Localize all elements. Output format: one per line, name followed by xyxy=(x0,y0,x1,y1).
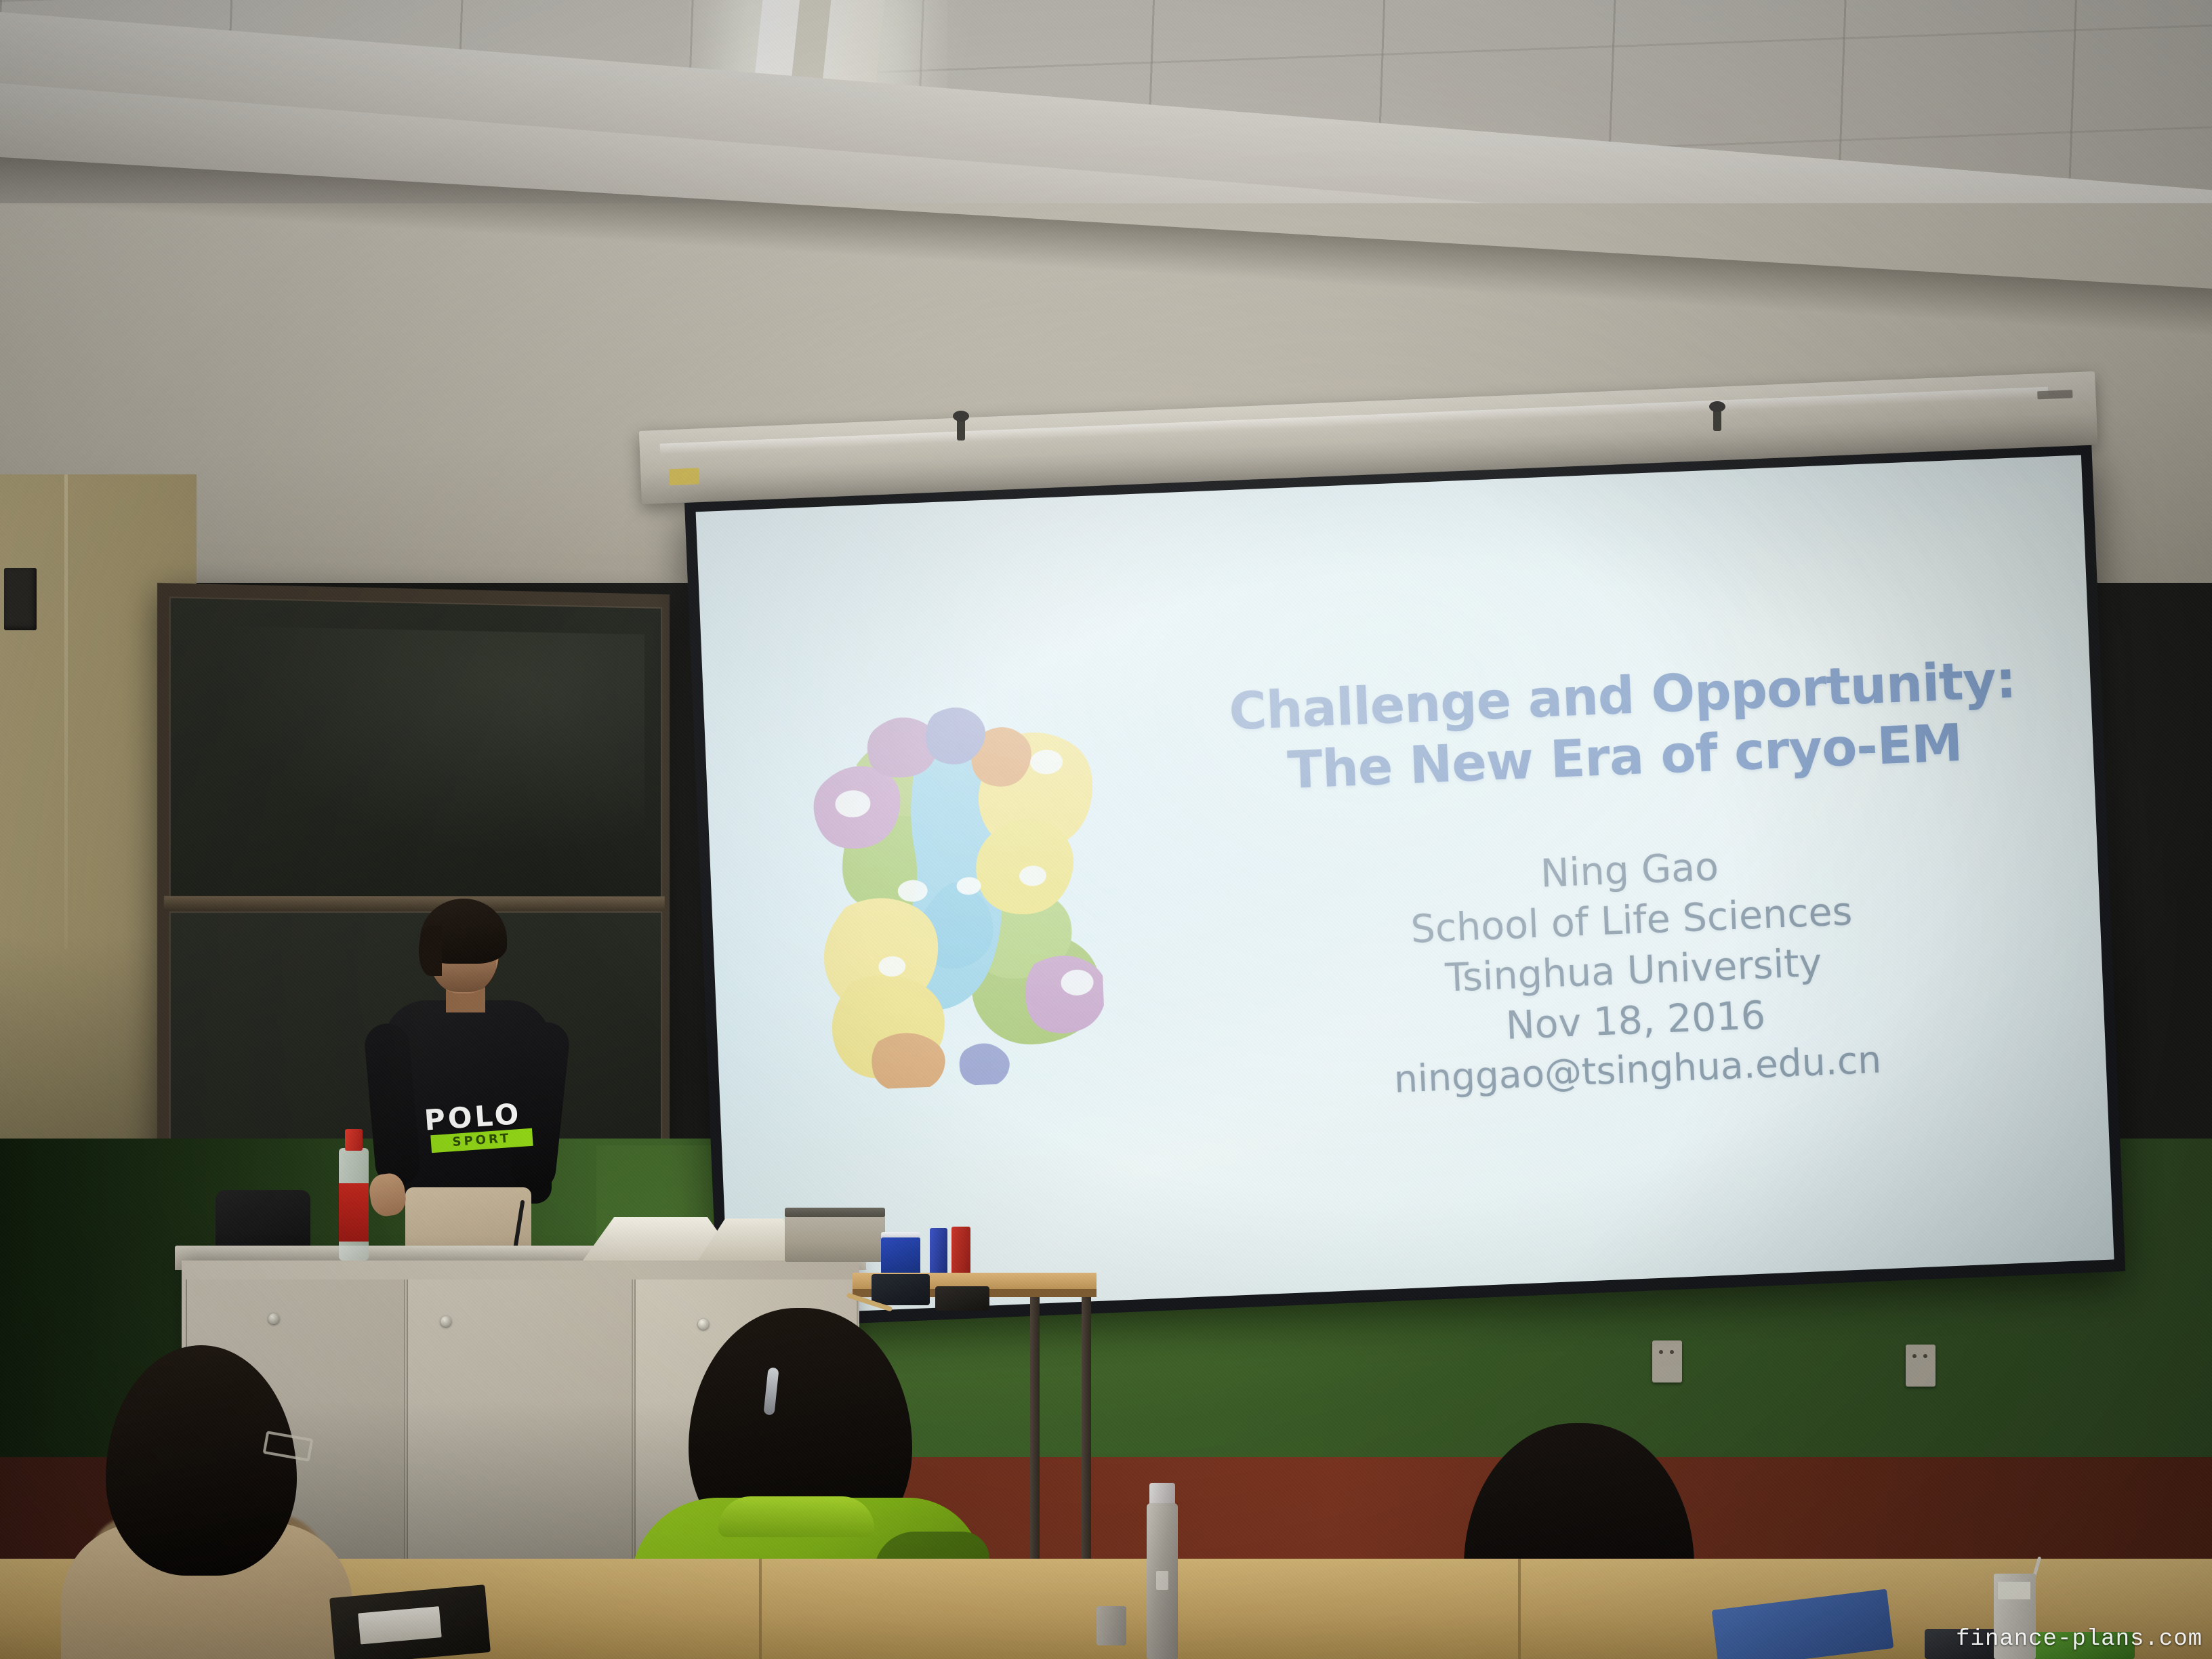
slide-byline: Ning Gao School of Life Sciences Tsinghu… xyxy=(1225,829,2041,1111)
dark-tray-1[interactable] xyxy=(872,1274,930,1305)
presenter-person: POLO SPORT xyxy=(366,908,569,1288)
wall-seam xyxy=(64,474,68,949)
wall-speaker-box xyxy=(4,568,37,630)
blackboard-glare xyxy=(191,626,645,870)
water-bottle-cap xyxy=(345,1129,363,1151)
water-bottle-label xyxy=(339,1183,369,1242)
blackboard-panel-upper xyxy=(169,596,662,897)
slide-title: Challenge and Opportunity: The New Era o… xyxy=(1218,649,2028,803)
small-metal-cup[interactable] xyxy=(1097,1606,1126,1645)
watermark: finance-plans.com xyxy=(1956,1626,2203,1652)
audience-left-hair xyxy=(106,1345,297,1576)
lecture-hall-photo: Challenge and Opportunity: The New Era o… xyxy=(0,0,2212,1659)
ceiling-hook-left xyxy=(957,416,965,441)
side-desk-leg-left xyxy=(1030,1296,1040,1587)
wall-outlet-left xyxy=(1652,1340,1682,1382)
projection-screen[interactable]: Challenge and Opportunity: The New Era o… xyxy=(684,445,2125,1329)
presentation-slide: Challenge and Opportunity: The New Era o… xyxy=(696,455,2114,1316)
milk-carton-label xyxy=(1998,1582,2030,1599)
desk-seam-1 xyxy=(759,1559,762,1659)
blue-marker-can[interactable] xyxy=(930,1228,947,1274)
wall-outlet-right xyxy=(1906,1345,1935,1387)
audience-member-left xyxy=(68,1345,339,1659)
desk-seam-2 xyxy=(1518,1559,1521,1659)
audience-center-collar xyxy=(718,1496,874,1537)
casing-brand-logo xyxy=(2037,390,2072,399)
dark-tray-2[interactable] xyxy=(935,1286,989,1311)
ribosome-structure-figure xyxy=(799,674,1107,1092)
metal-equipment-box[interactable] xyxy=(785,1213,885,1262)
presenter-hair-side xyxy=(419,926,442,976)
thermos-marking xyxy=(1156,1571,1168,1590)
red-marker-can[interactable] xyxy=(951,1227,970,1274)
projection-screen-surface: Challenge and Opportunity: The New Era o… xyxy=(696,455,2114,1316)
ceiling-hook-right xyxy=(1713,407,1721,431)
notebook-label xyxy=(358,1606,442,1644)
side-desk-leg-right xyxy=(1082,1296,1091,1567)
metal-box-lid xyxy=(785,1208,885,1217)
casing-sticker xyxy=(669,468,699,485)
blue-storage-box[interactable] xyxy=(881,1237,920,1274)
water-bottle[interactable] xyxy=(339,1125,369,1261)
notebook-on-desk[interactable] xyxy=(329,1584,491,1659)
